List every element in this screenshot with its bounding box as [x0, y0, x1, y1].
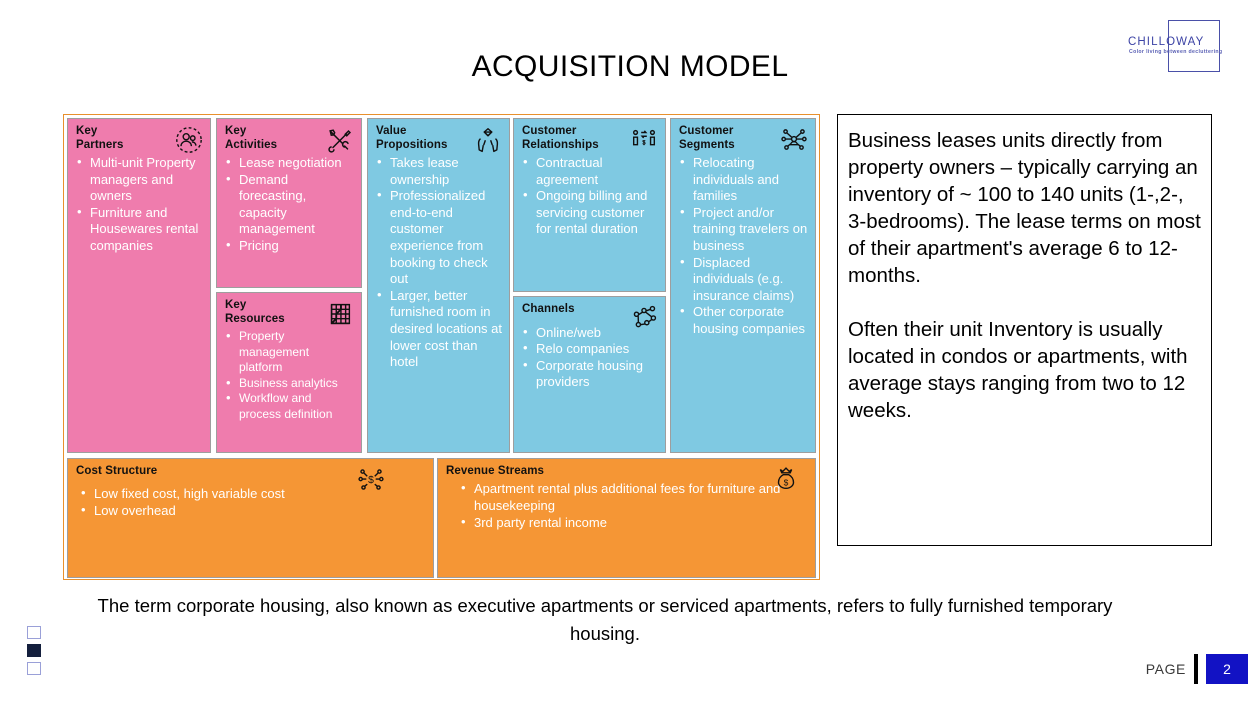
- list-item: Other corporate housing companies: [691, 304, 809, 337]
- page-number-badge: 2: [1206, 654, 1248, 684]
- canvas-block-revenue-streams[interactable]: $ Revenue Streams Apartment rental plus …: [437, 458, 816, 578]
- block-title: Revenue Streams: [438, 459, 815, 479]
- canvas-block-cost-structure[interactable]: $ Cost Structure Low fixed cost, high va…: [67, 458, 434, 578]
- list-item: Relocating individuals and families: [691, 155, 809, 205]
- block-title: Value Propositions: [368, 119, 509, 152]
- canvas-block-customer-relationships[interactable]: $ Customer Relationships Contractual agr…: [513, 118, 666, 292]
- list-item: Business analytics: [237, 376, 355, 392]
- list-item: Demand forecasting, capacity management: [237, 172, 355, 238]
- list-item: Pricing: [237, 238, 355, 255]
- description-paragraph-1: Business leases units directly from prop…: [848, 127, 1201, 289]
- block-title-line1: Cost Structure: [76, 465, 157, 477]
- block-title-line1: Key: [225, 299, 246, 311]
- block-title-line1: Revenue Streams: [446, 465, 544, 477]
- list-item: Project and/or training travelers on bus…: [691, 205, 809, 255]
- canvas-block-key-activities[interactable]: Key Activities Lease negotiation Demand …: [216, 118, 362, 288]
- list-item: Corporate housing providers: [534, 358, 659, 391]
- block-title-line1: Key: [225, 125, 246, 137]
- list-item: Larger, better furnished room in desired…: [388, 288, 503, 371]
- block-list: Lease negotiation Demand forecasting, ca…: [217, 155, 361, 255]
- list-item: Low overhead: [92, 502, 427, 519]
- block-title-line2: Segments: [679, 139, 807, 153]
- block-title: Key Partners: [68, 119, 210, 152]
- list-item: Multi-unit Property managers and owners: [88, 155, 204, 205]
- list-item: 3rd party rental income: [472, 514, 809, 531]
- list-item: Relo companies: [534, 341, 659, 358]
- business-model-canvas: Key Partners Multi-unit Property manager…: [63, 114, 820, 580]
- list-item: Professionalized end-to-end customer exp…: [388, 188, 503, 288]
- block-title-line1: Value: [376, 125, 407, 137]
- page-footer: PAGE 2: [1146, 653, 1248, 685]
- svg-text:$: $: [784, 478, 789, 488]
- block-title: Customer Relationships: [514, 119, 665, 152]
- list-item: Ongoing billing and servicing customer f…: [534, 188, 659, 238]
- canvas-block-key-partners[interactable]: Key Partners Multi-unit Property manager…: [67, 118, 211, 453]
- logo-name: CHILLOWAY: [1128, 36, 1204, 48]
- block-title-line2: Propositions: [376, 139, 501, 153]
- canvas-block-key-resources[interactable]: Key Resources Property management platfo…: [216, 292, 362, 453]
- block-list: Relocating individuals and families Proj…: [671, 155, 815, 338]
- block-title-line2: Resources: [225, 313, 353, 327]
- block-list: Online/web Relo companies Corporate hous…: [514, 325, 665, 391]
- block-list: Multi-unit Property managers and owners …: [68, 155, 210, 255]
- description-panel: Business leases units directly from prop…: [837, 114, 1212, 546]
- canvas-block-customer-segments[interactable]: Customer Segments Relocating individuals…: [670, 118, 816, 453]
- list-item: Contractual agreement: [534, 155, 659, 188]
- block-title: Key Resources: [217, 293, 361, 326]
- block-title: Key Activities: [217, 119, 361, 152]
- brand-logo: CHILLOWAY Color living between declutter…: [1128, 20, 1220, 72]
- block-title-line1: Customer: [522, 125, 576, 137]
- list-item: Furniture and Housewares rental companie…: [88, 205, 204, 255]
- block-list: Apartment rental plus additional fees fo…: [438, 480, 815, 531]
- progress-square-3: [27, 662, 41, 675]
- list-item: Workflow and process definition: [237, 391, 355, 422]
- list-item: Property management platform: [237, 329, 355, 376]
- block-list: Takes lease ownership Professionalized e…: [368, 155, 509, 371]
- block-list: Property management platform Business an…: [217, 329, 361, 422]
- canvas-block-value-propositions[interactable]: Value Propositions Takes lease ownership…: [367, 118, 510, 453]
- list-item: Displaced individuals (e.g. insurance cl…: [691, 255, 809, 305]
- block-title: Customer Segments: [671, 119, 815, 152]
- progress-square-1: [27, 626, 41, 639]
- progress-squares: [27, 626, 43, 680]
- canvas-block-channels[interactable]: Channels Online/web Relo companies Corpo…: [513, 296, 666, 453]
- list-item: Apartment rental plus additional fees fo…: [472, 480, 809, 514]
- block-title-line2: Partners: [76, 139, 202, 153]
- progress-square-2-active: [27, 644, 41, 657]
- block-title-line1: Customer: [679, 125, 733, 137]
- logo-tagline: Color living between decluttering: [1129, 49, 1222, 55]
- page-divider: [1194, 654, 1198, 684]
- block-title: Channels: [514, 297, 665, 317]
- list-item: Lease negotiation: [237, 155, 355, 172]
- slide-caption: The term corporate housing, also known a…: [70, 592, 1140, 648]
- block-title-line1: Channels: [522, 303, 575, 315]
- page-label: PAGE: [1146, 661, 1186, 677]
- block-title: Cost Structure: [68, 459, 433, 479]
- page-title: ACQUISITION MODEL: [0, 50, 1260, 84]
- block-title-line2: Relationships: [522, 139, 657, 153]
- list-item: Takes lease ownership: [388, 155, 503, 188]
- block-title-line1: Key: [76, 125, 97, 137]
- description-paragraph-2: Often their unit Inventory is usually lo…: [848, 316, 1201, 424]
- block-list: Contractual agreement Ongoing billing an…: [514, 155, 665, 238]
- block-title-line2: Activities: [225, 139, 353, 153]
